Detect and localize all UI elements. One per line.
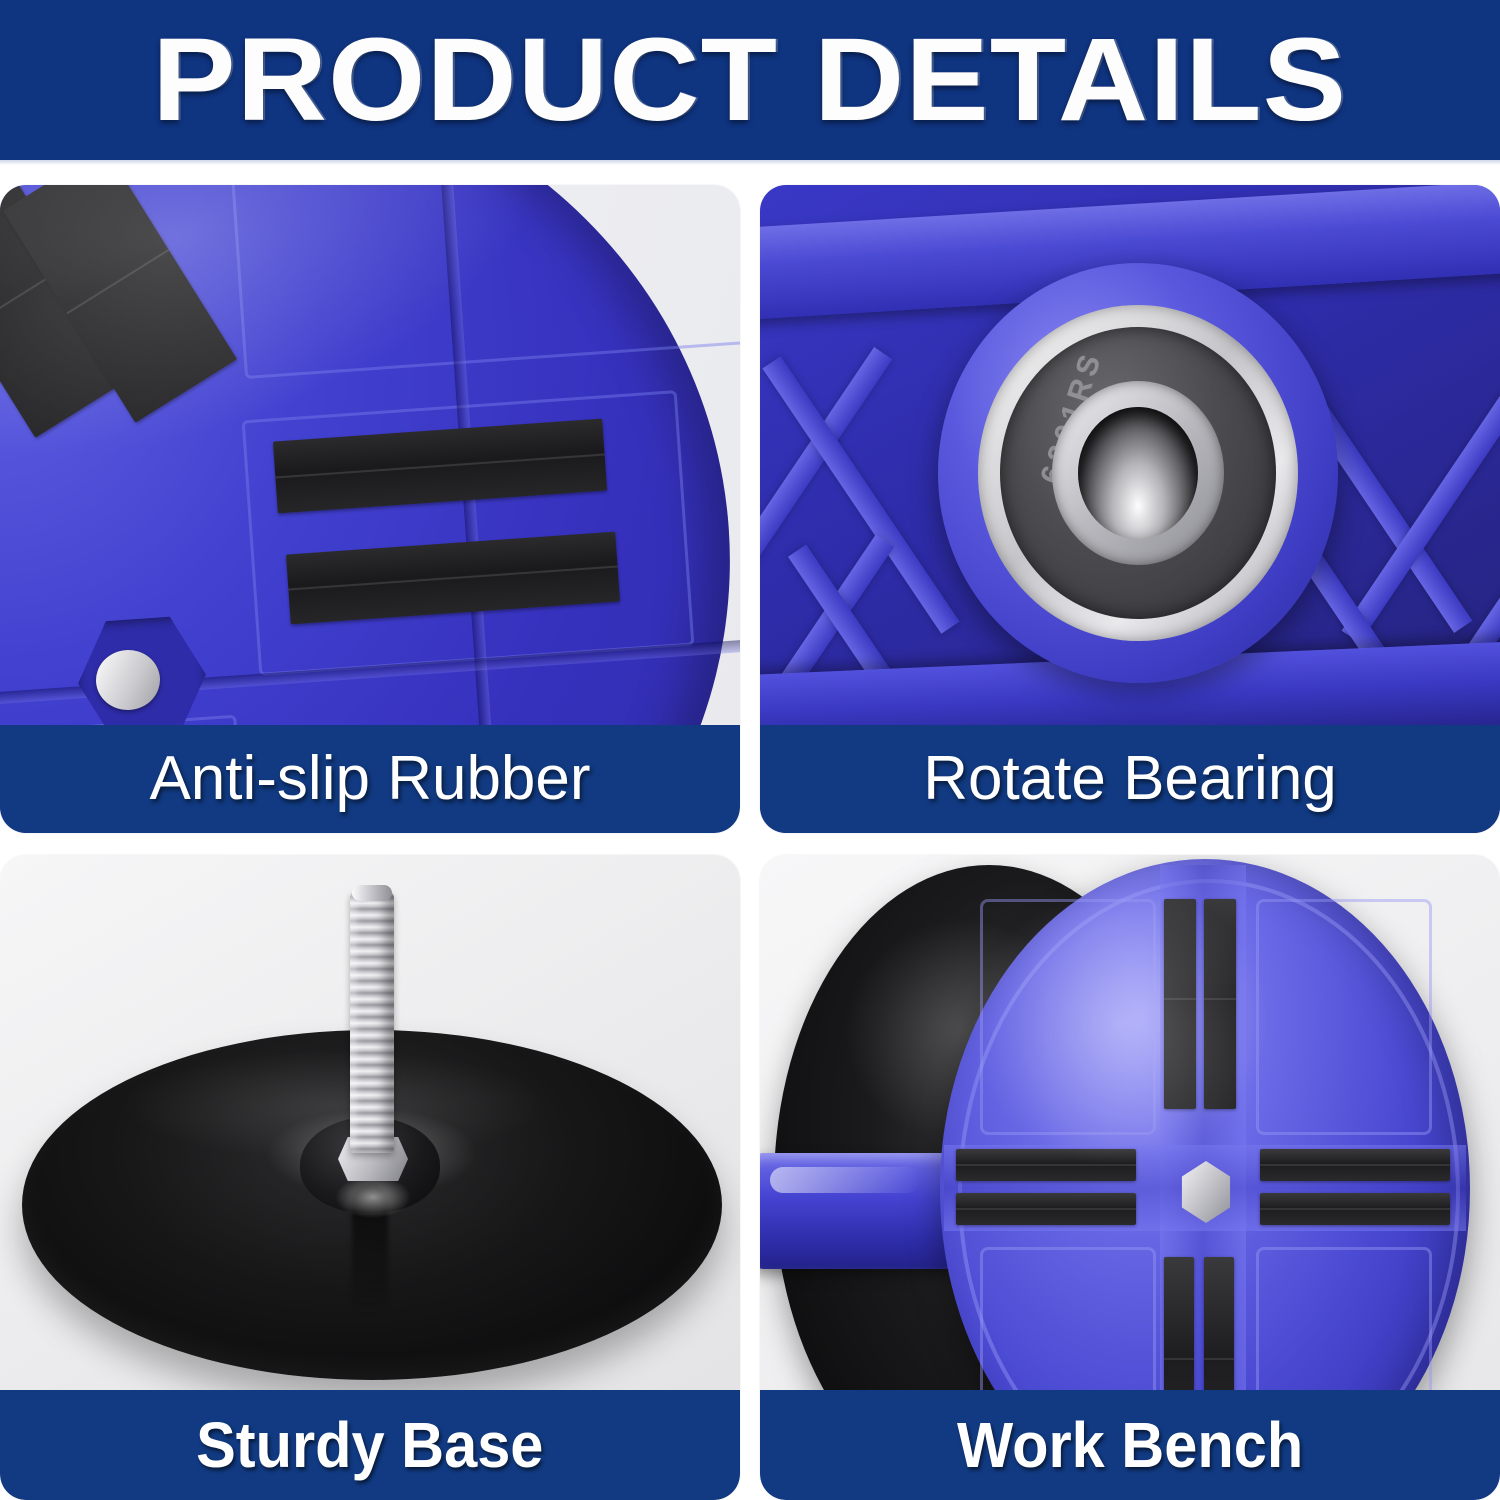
caption-label: Sturdy Base	[196, 1413, 543, 1477]
caption-label: Rotate Bearing	[923, 748, 1337, 810]
panel-frame: 6201RS Rotate Bearing	[760, 185, 1500, 833]
header-divider	[0, 160, 1500, 165]
caption-bar-rotate-bearing: Rotate Bearing	[760, 725, 1500, 833]
caption-label: Work Bench	[957, 1413, 1303, 1477]
rubber-strip	[1260, 1193, 1450, 1225]
panel-sturdy-base[interactable]: Sturdy Base	[0, 855, 740, 1500]
header-banner: PRODUCT DETAILS	[0, 0, 1500, 160]
panel-work-bench[interactable]: Work Bench	[760, 855, 1500, 1500]
bolt-tip	[352, 885, 392, 901]
panel-grid: Anti-slip Rubber	[0, 185, 1500, 1500]
caption-bar-work-bench: Work Bench	[760, 1390, 1500, 1500]
caption-bar-anti-slip-rubber: Anti-slip Rubber	[0, 725, 740, 833]
threaded-bolt	[350, 891, 394, 1153]
panel-anti-slip-rubber[interactable]: Anti-slip Rubber	[0, 185, 740, 833]
panel-frame: Work Bench	[760, 855, 1500, 1500]
bearing-bore	[1078, 407, 1198, 539]
panel-frame: Anti-slip Rubber	[0, 185, 740, 833]
caption-bar-sturdy-base: Sturdy Base	[0, 1390, 740, 1500]
rubber-strip	[956, 1193, 1136, 1225]
caption-label: Anti-slip Rubber	[149, 748, 590, 810]
product-details-infographic: PRODUCT DETAILS	[0, 0, 1500, 1500]
panel-frame: Sturdy Base	[0, 855, 740, 1500]
page-title: PRODUCT DETAILS	[153, 21, 1348, 139]
disc-sector-panel	[1256, 899, 1432, 1135]
rubber-strip	[1260, 1149, 1450, 1181]
panel-rotate-bearing[interactable]: 6201RS Rotate Bearing	[760, 185, 1500, 833]
specular-highlight	[770, 1167, 920, 1193]
